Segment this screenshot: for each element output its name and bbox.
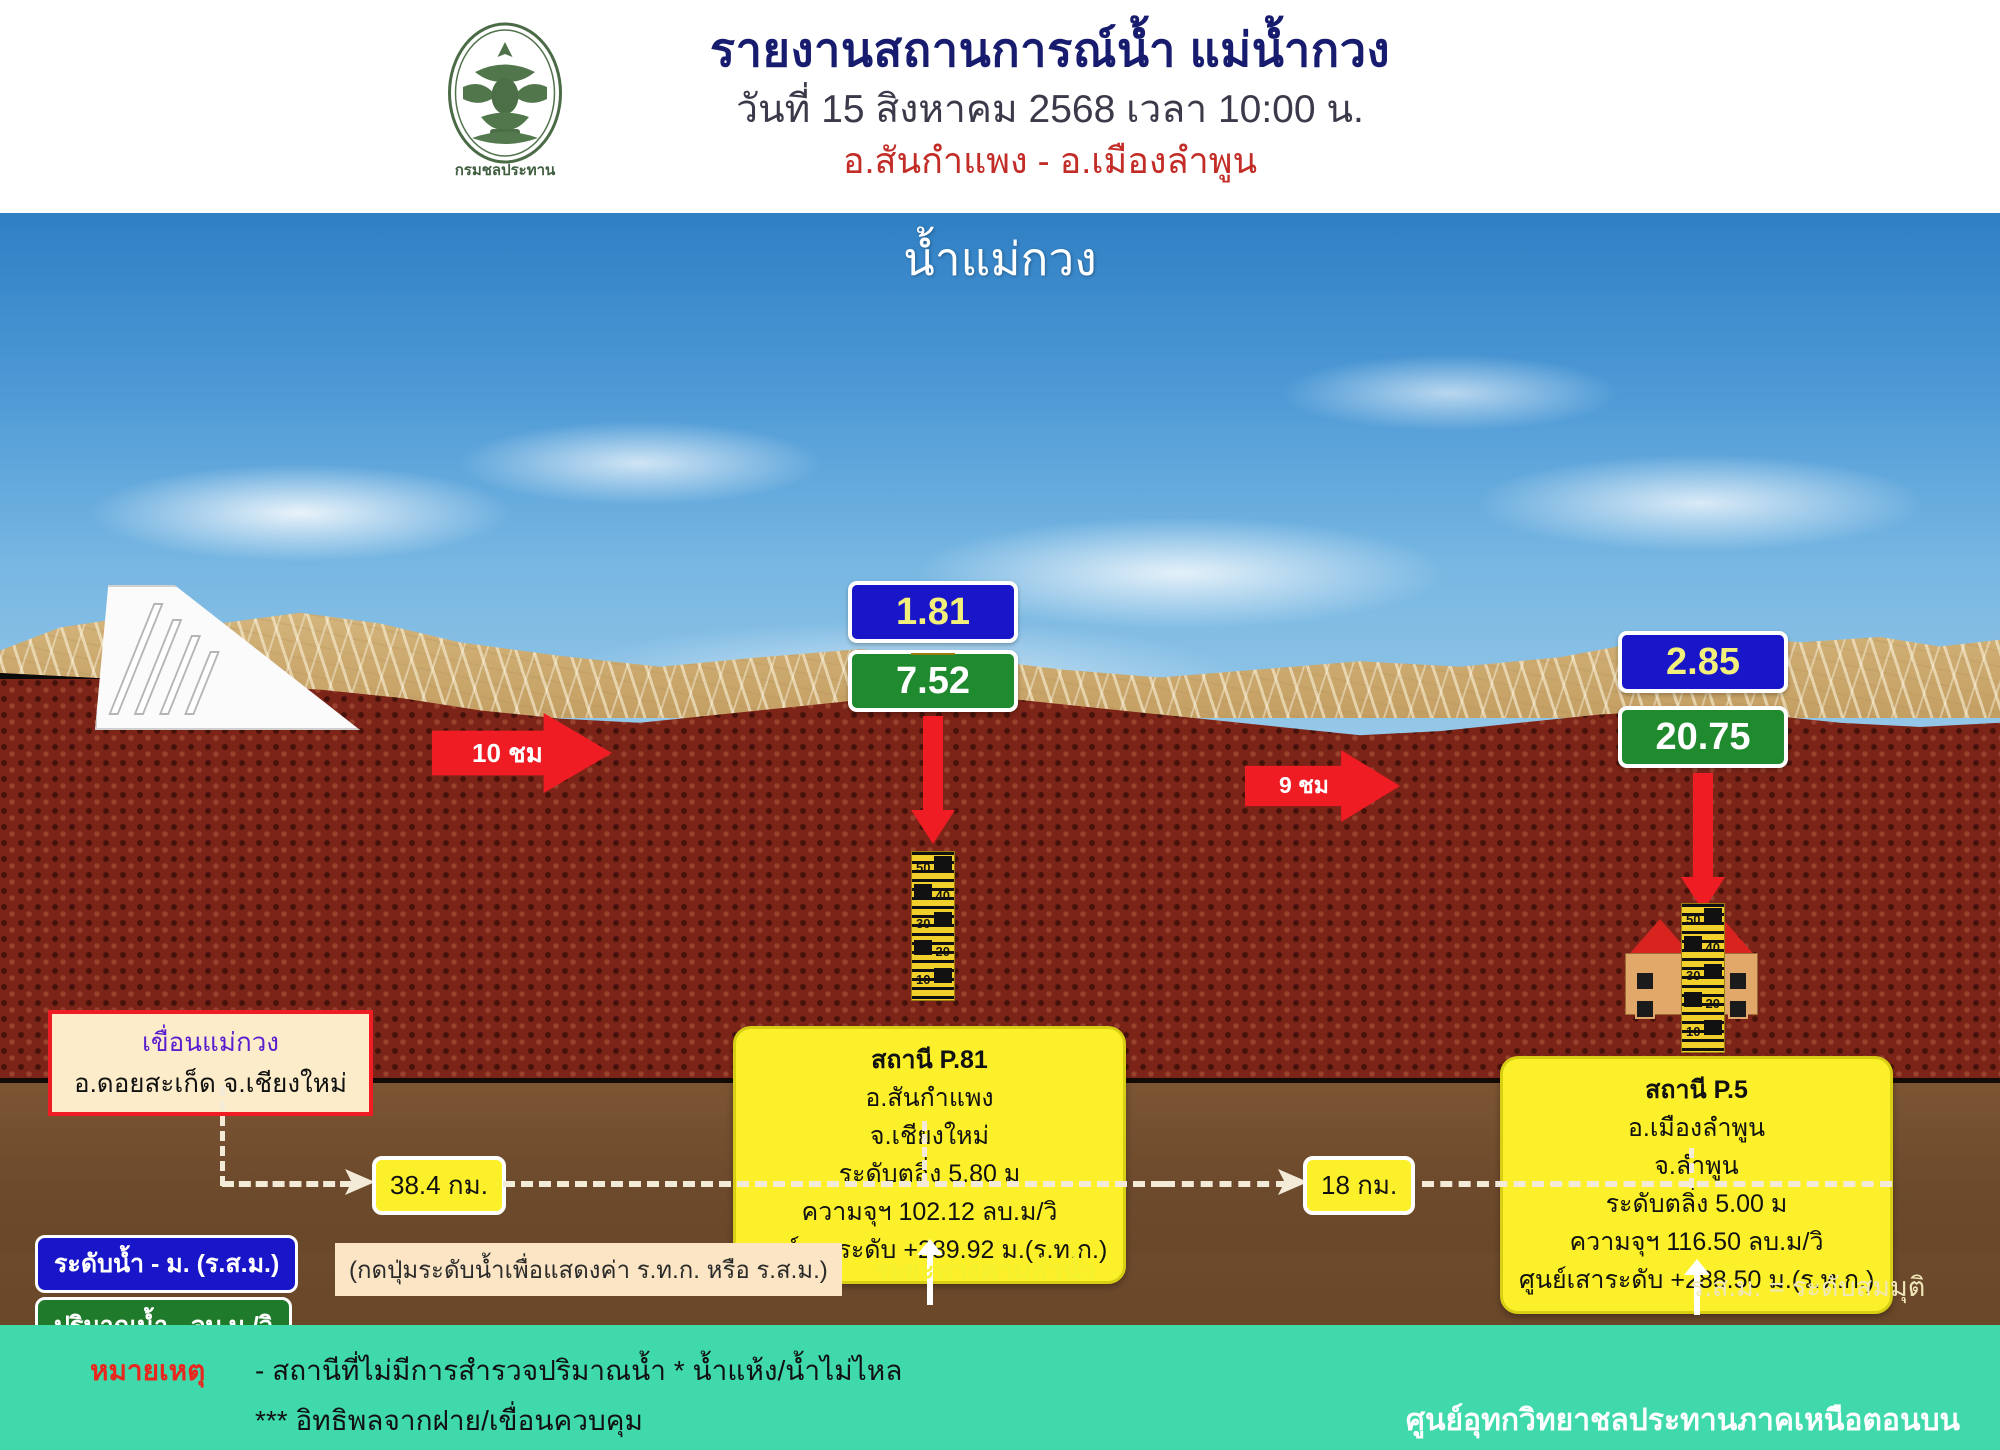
station-2-province: จ.ลำพูน [1519,1147,1874,1185]
mae-kuang-dam-structure [95,585,360,730]
station-1-water-level-value: 1.81 [896,591,970,634]
station-2-bank-level: ระดับตลิ่ง 5.00 ม [1519,1185,1874,1223]
distance-caption: ระยะทางตามลำน้ำ [875,1248,1096,1291]
station-2-capacity: ความจุฯ 116.50 ลบ.ม/วิ [1519,1223,1874,1261]
rsm-definition: ร.ส.ม. = ระดับสมมุติ [1690,1265,1925,1308]
station-2-water-level-value: 2.85 [1666,641,1740,684]
station-2-water-level-chip[interactable]: 2.85 [1618,631,1788,693]
page-title: รายงานสถานการณ์น้ำ แม่น้ำกวง [600,12,1500,87]
gauge-tick-label: 20 [1706,996,1720,1011]
station-1-staff-gauge-pole: 50 40 30 20 10 [911,851,955,1001]
gauge-tick-label: 50 [916,860,930,875]
gauge-tick-label: 10 [916,972,930,987]
report-route: อ.สันกำแพง - อ.เมืองลำพูน [600,132,1500,189]
station-2-discharge-chip[interactable]: 20.75 [1618,706,1788,768]
gauge-block [1684,936,1702,951]
station-2-drop-line [1689,1148,1694,1188]
note-line-2: *** อิทธิพลจากฝาย/เขื่อนควบคุม [255,1399,643,1443]
garuda-seal-icon [430,18,580,168]
gauge-tick-label: 40 [936,888,950,903]
window [1635,971,1655,991]
gauge-tick-label: 50 [1686,912,1700,927]
gauge-block [934,968,952,983]
travel-time-arrow-1: 10 ชม [432,713,612,793]
organization-name: ศูนย์อุทกวิทยาชลประทานภาคเหนือตอนบน [1406,1397,1960,1444]
distance-2-box: 18 กม. [1303,1156,1415,1215]
river-diagram: น้ำแม่กวง 10 ชม 9 ชม 1.81 7.52 [0,213,2000,1325]
legend-water-level[interactable]: ระดับน้ำ - ม. (ร.ส.ม.) [35,1235,298,1293]
travel-time-label: 10 ชม [432,733,543,774]
river-name-label: น้ำแม่กวง [700,223,1300,296]
measurement-hint-text: (กดปุ่มระดับน้ำเพื่อแสดงค่า ร.ท.ก. หรือ … [349,1257,828,1284]
distance-line-1 [222,1181,352,1187]
distance-line-2 [503,1181,1163,1187]
travel-time-label: 9 ชม [1245,768,1329,804]
station-1-water-level-chip[interactable]: 1.81 [848,581,1018,643]
distance-2-value: 18 กม. [1321,1170,1397,1200]
page-header: กรมชลประทาน รายงานสถานการณ์น้ำ แม่น้ำกวง… [0,0,2000,213]
station-1-bank-level: ระดับตลิ่ง 5.80 ม [752,1155,1107,1193]
seal-label: กรมชลประทาน [430,158,580,182]
gauge-block [934,856,952,871]
station-1-staff-gauge [911,653,955,655]
gauge-tick-label: 40 [1706,940,1720,955]
legend-discharge[interactable]: ปริมาณน้ำ - ลบ.ม./วิ [35,1297,292,1325]
station-2-district: อ.เมืองลำพูน [1519,1109,1874,1147]
station-1-province: จ.เชียงใหม่ [752,1117,1107,1155]
station-1-capacity: ความจุฯ 102.12 ลบ.ม/วิ [752,1193,1107,1231]
dam-info-box: เขื่อนแม่กวง อ.ดอยสะเก็ด จ.เชียงใหม่ [48,1010,373,1116]
station-1-discharge-chip[interactable]: 7.52 [848,650,1018,712]
gauge-block [1704,908,1722,923]
note-label: หมายเหตุ [90,1349,205,1393]
gauge-block [914,884,932,899]
station-2-staff-gauge-pole: 50 40 30 20 10 [1681,903,1725,1053]
legend-water-level-label: ระดับน้ำ - ม. (ร.ส.ม.) [54,1250,279,1278]
report-page: กรมชลประทาน รายงานสถานการณ์น้ำ แม่น้ำกวง… [0,0,2000,1450]
station-1-discharge-value: 7.52 [896,660,970,703]
gauge-tick-label: 10 [1686,1024,1700,1039]
distance-1-box: 38.4 กม. [372,1156,506,1215]
gauge-tick-label: 30 [1686,968,1700,983]
distance-line-3 [1163,1181,1288,1187]
arrow-stem [923,716,943,814]
station-2-discharge-value: 20.75 [1655,716,1750,759]
gauge-block [1684,992,1702,1007]
dam-drop-line [220,1086,225,1186]
station-1-name: สถานี P.81 [752,1041,1107,1079]
distance-line-4 [1422,1181,1892,1187]
gauge-block [1704,1020,1722,1035]
gauge-block [1704,964,1722,979]
legend-discharge-label: ปริมาณน้ำ - ลบ.ม./วิ [54,1312,273,1325]
station-2-name: สถานี P.5 [1519,1071,1874,1109]
station-2-pointer-arrow [1681,773,1725,881]
gauge-block [934,912,952,927]
dam-name: เขื่อนแม่กวง [68,1022,353,1063]
report-datetime: วันที่ 15 สิงหาคม 2568 เวลา 10:00 น. [600,78,1500,140]
travel-time-arrow-2: 9 ชม [1245,750,1400,822]
dam-location: อ.ดอยสะเก็ด จ.เชียงใหม่ [68,1063,353,1104]
distance-1-value: 38.4 กม. [390,1170,488,1200]
window [1635,999,1655,1019]
station-1-district: อ.สันกำแพง [752,1079,1107,1117]
window [1728,971,1748,991]
page-footer: หมายเหตุ - สถานีที่ไม่มีการสำรวจปริมาณน้… [0,1325,2000,1450]
gauge-tick-label: 20 [936,944,950,959]
window [1728,999,1748,1019]
arrow-stem [1693,773,1713,881]
station-1-drop-line [922,1121,927,1183]
gauge-block [914,940,932,955]
note-line-1: - สถานีที่ไม่มีการสำรวจปริมาณน้ำ * น้ำแห… [255,1349,902,1393]
measurement-hint: (กดปุ่มระดับน้ำเพื่อแสดงค่า ร.ท.ก. หรือ … [335,1243,842,1296]
station-1-pointer-arrow [911,716,955,814]
gauge-tick-label: 30 [916,916,930,931]
